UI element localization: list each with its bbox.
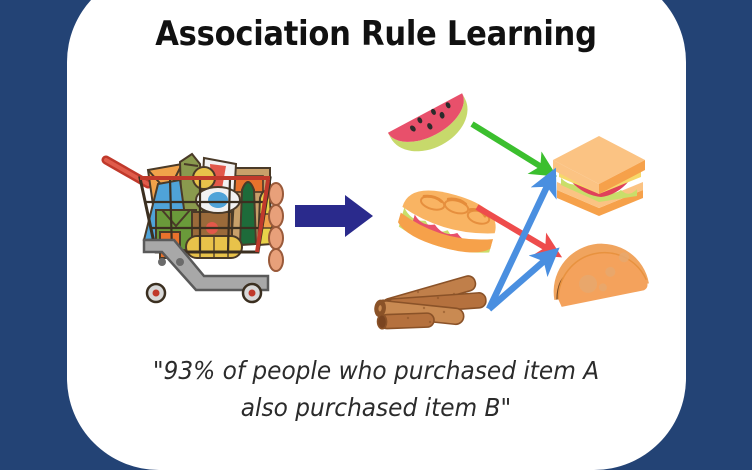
rule-arrow-watermelon-to-sandwich [472,124,548,171]
caption-line-2: also purchased item B" [26,389,725,426]
slide-canvas: Association Rule Learning [0,0,752,440]
caption: "93% of people who purchased item A also… [26,352,725,426]
rule-arrow-sub-to-taco [477,207,553,252]
caption-line-1: "93% of people who purchased item A [153,356,599,385]
